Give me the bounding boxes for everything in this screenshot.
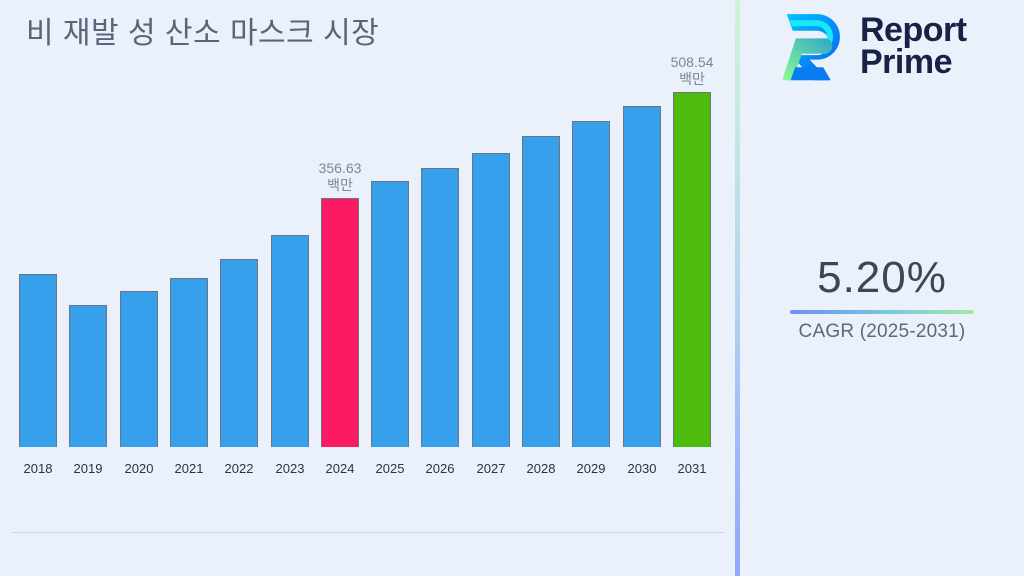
bar-chart-plot: 201820192020202120222023356.63백만20242025… bbox=[0, 0, 737, 533]
x-tick-label-2018: 2018 bbox=[19, 461, 57, 476]
bar-2029[interactable] bbox=[572, 121, 610, 447]
bar-value-label-2024: 356.63백만 bbox=[319, 160, 362, 194]
bar-value-unit-2031: 백만 bbox=[671, 71, 714, 88]
bar-2023[interactable] bbox=[271, 235, 309, 447]
bar-2019[interactable] bbox=[69, 305, 107, 447]
bar-group-2018[interactable]: 2018 bbox=[19, 274, 57, 490]
cagr-value: 5.20% bbox=[740, 252, 1024, 304]
bar-group-2029[interactable]: 2029 bbox=[572, 121, 610, 490]
cagr-label: CAGR (2025-2031) bbox=[740, 321, 1024, 343]
x-tick-label-2030: 2030 bbox=[623, 461, 661, 476]
bar-group-2026[interactable]: 2026 bbox=[421, 168, 459, 490]
report-prime-logo-icon bbox=[770, 8, 846, 84]
x-tick-label-2027: 2027 bbox=[472, 461, 510, 476]
x-axis-line bbox=[12, 532, 724, 533]
x-tick-label-2024: 2024 bbox=[321, 461, 359, 476]
bar-value-label-2031: 508.54백만 bbox=[671, 54, 714, 88]
bar-2028[interactable] bbox=[522, 136, 560, 447]
bar-group-2022[interactable]: 2022 bbox=[220, 259, 258, 490]
cagr-block: 5.20% CAGR (2025-2031) bbox=[740, 252, 1024, 343]
bar-2027[interactable] bbox=[472, 153, 510, 447]
bar-2020[interactable] bbox=[120, 291, 158, 447]
bar-2024[interactable] bbox=[321, 198, 359, 447]
bar-group-2019[interactable]: 2019 bbox=[69, 305, 107, 490]
bar-2022[interactable] bbox=[220, 259, 258, 447]
bar-value-number-2024: 356.63 bbox=[319, 160, 362, 177]
x-tick-label-2029: 2029 bbox=[572, 461, 610, 476]
bar-group-2023[interactable]: 2023 bbox=[271, 235, 309, 490]
x-tick-label-2022: 2022 bbox=[220, 461, 258, 476]
bar-2018[interactable] bbox=[19, 274, 57, 447]
bar-2025[interactable] bbox=[371, 181, 409, 447]
x-tick-label-2020: 2020 bbox=[120, 461, 158, 476]
chart-infographic: 비 재발 성 산소 마스크 시장 20182019202020212022202… bbox=[0, 0, 1024, 576]
bar-group-2030[interactable]: 2030 bbox=[623, 106, 661, 490]
x-tick-label-2021: 2021 bbox=[170, 461, 208, 476]
x-tick-label-2023: 2023 bbox=[271, 461, 309, 476]
brand-name-line2: Prime bbox=[860, 46, 967, 78]
chart-panel: 비 재발 성 산소 마스크 시장 20182019202020212022202… bbox=[0, 0, 737, 576]
bar-2031[interactable] bbox=[673, 92, 711, 447]
x-tick-label-2025: 2025 bbox=[371, 461, 409, 476]
brand-wordmark: Report Prime bbox=[860, 14, 967, 79]
bar-group-2020[interactable]: 2020 bbox=[120, 291, 158, 490]
cagr-divider-rule bbox=[790, 310, 974, 314]
x-tick-label-2019: 2019 bbox=[69, 461, 107, 476]
bar-group-2025[interactable]: 2025 bbox=[371, 181, 409, 490]
brand-logo: Report Prime bbox=[770, 8, 967, 84]
brand-panel: Report Prime 5.20% CAGR (2025-2031) bbox=[740, 0, 1024, 576]
bar-group-2024[interactable]: 356.63백만2024 bbox=[321, 198, 359, 490]
brand-name-line1: Report bbox=[860, 14, 967, 46]
bar-2030[interactable] bbox=[623, 106, 661, 447]
x-tick-label-2031: 2031 bbox=[673, 461, 711, 476]
bar-group-2027[interactable]: 2027 bbox=[472, 153, 510, 490]
x-tick-label-2026: 2026 bbox=[421, 461, 459, 476]
bar-2021[interactable] bbox=[170, 278, 208, 447]
bar-group-2028[interactable]: 2028 bbox=[522, 136, 560, 490]
bar-group-2021[interactable]: 2021 bbox=[170, 278, 208, 490]
bar-value-number-2031: 508.54 bbox=[671, 54, 714, 71]
x-tick-label-2028: 2028 bbox=[522, 461, 560, 476]
bar-value-unit-2024: 백만 bbox=[319, 177, 362, 194]
bar-group-2031[interactable]: 508.54백만2031 bbox=[673, 92, 711, 490]
bar-2026[interactable] bbox=[421, 168, 459, 447]
